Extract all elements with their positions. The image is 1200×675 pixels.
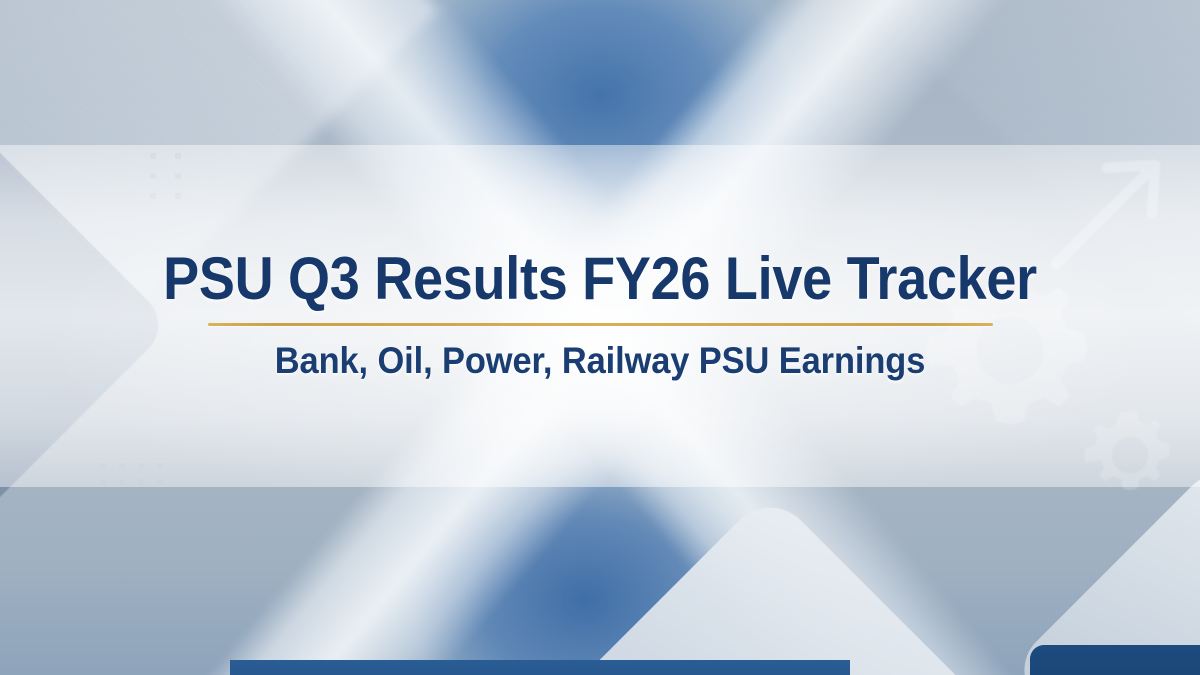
gold-divider-rule [208,323,993,326]
page-subtitle: Bank, Oil, Power, Railway PSU Earnings [42,340,1158,382]
gear-small-icon [1075,400,1185,510]
page-title: PSU Q3 Results FY26 Live Tracker [60,248,1140,309]
bottom-center-peak-shape [530,490,1011,675]
dot-grid-upper [150,153,181,199]
psu-results-banner: PSU Q3 Results FY26 Live Tracker Bank, O… [0,0,1200,675]
headline-block: PSU Q3 Results FY26 Live Tracker Bank, O… [0,248,1200,382]
navy-bottom-bar [230,660,850,675]
dot-grid-lower [100,463,163,485]
navy-corner-block [1030,645,1200,675]
